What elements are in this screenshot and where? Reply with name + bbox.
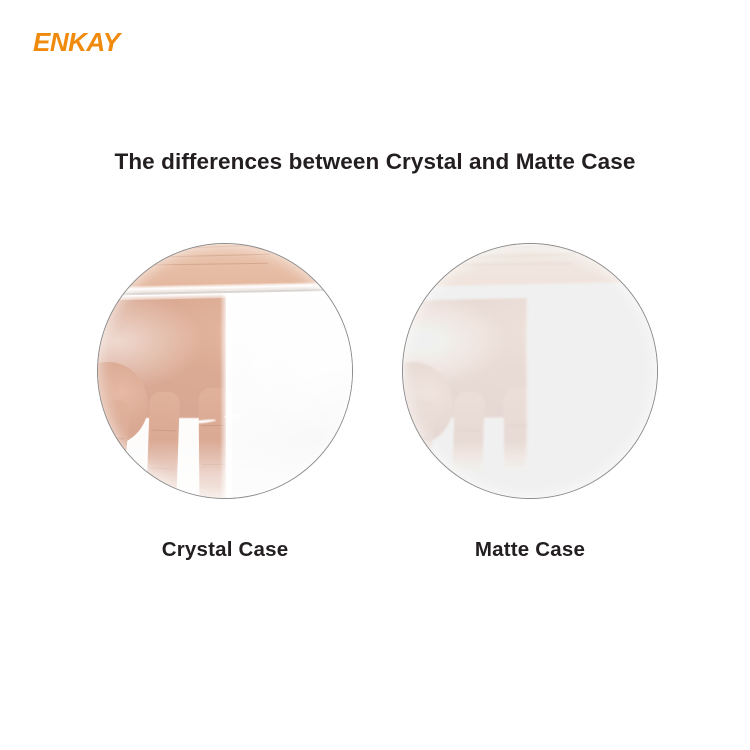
knuckle-crease <box>152 429 176 431</box>
comparison-item-crystal <box>97 243 353 499</box>
enkay-brand-logo: ENKAY <box>33 29 120 55</box>
comparison-item-matte <box>402 243 658 499</box>
page-title: The differences between Crystal and Matt… <box>0 148 750 175</box>
product-comparison-page: ENKAY The differences between Crystal an… <box>0 0 750 750</box>
comparison-row <box>0 243 750 499</box>
wrist-crease-line <box>403 254 575 260</box>
caption-crystal-case: Crystal Case <box>97 538 353 562</box>
matte-case-scene <box>403 244 657 498</box>
crystal-case-scene <box>98 244 352 498</box>
wrist-crease-line <box>403 263 573 267</box>
wrist-crease-line <box>98 254 270 260</box>
knuckle-crease <box>457 429 481 431</box>
wrist-crease-line <box>98 263 268 267</box>
case-surface-sheen <box>190 284 352 498</box>
matte-case-photo-circle <box>402 243 658 499</box>
case-surface-sheen <box>495 284 657 498</box>
caption-matte-case: Matte Case <box>402 538 658 562</box>
crystal-case-photo-circle <box>97 243 353 499</box>
